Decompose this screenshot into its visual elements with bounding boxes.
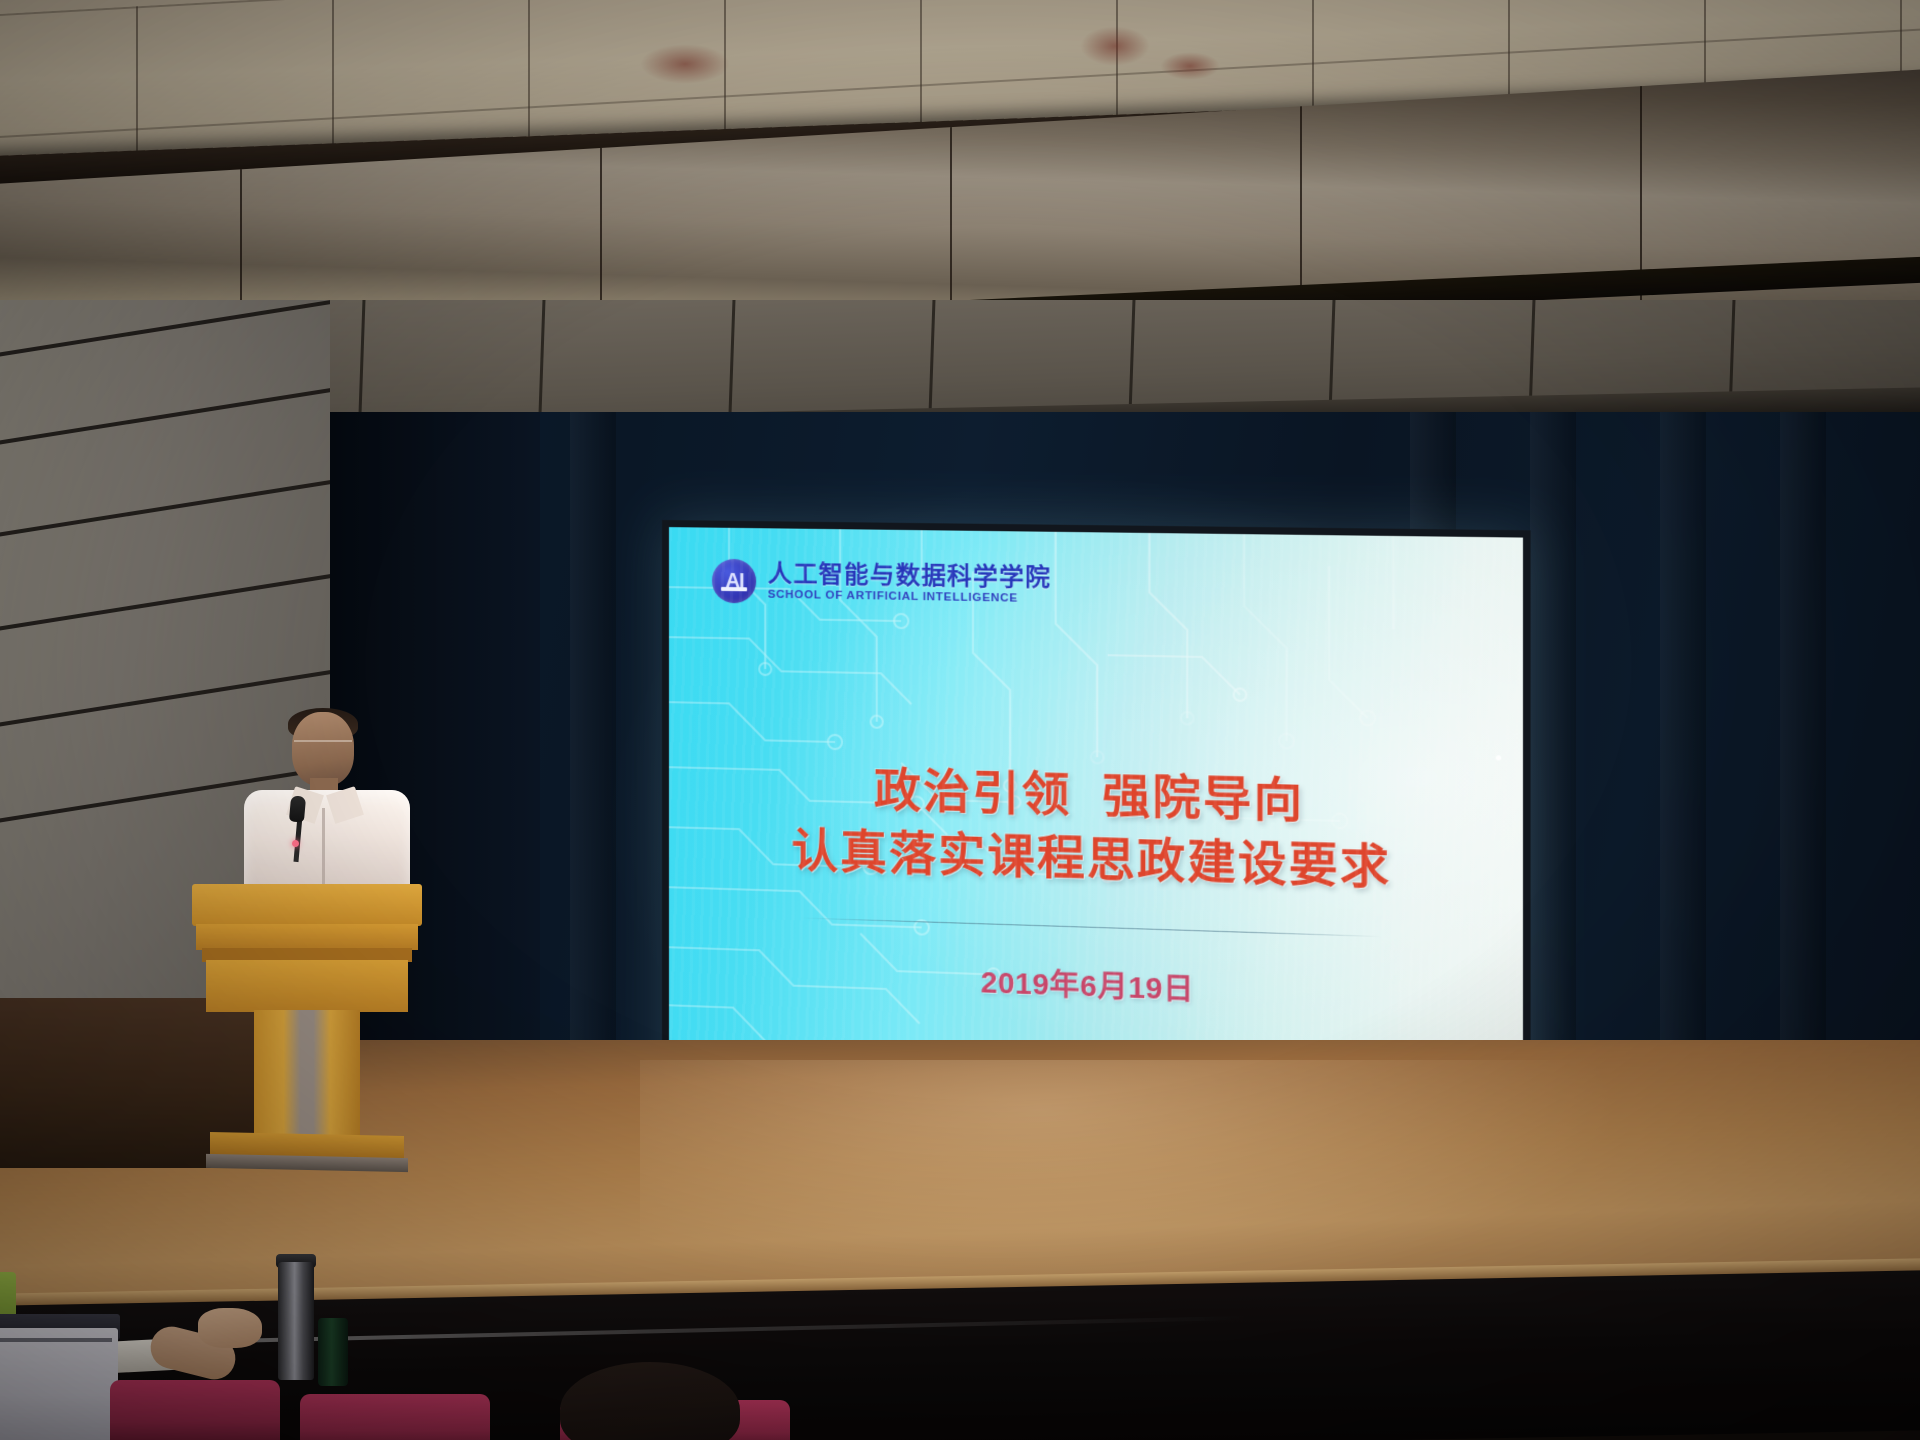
microphone-icon — [289, 795, 306, 822]
wall-seam — [727, 300, 736, 430]
school-logo-text: 人工智能与数据科学学院 SCHOOL OF ARTIFICIAL INTELLI… — [768, 562, 1051, 606]
presenter — [236, 712, 416, 902]
auditorium-seat — [300, 1394, 490, 1440]
podium-top-surface — [192, 884, 422, 926]
school-name-cn: 人工智能与数据科学学院 — [768, 562, 1051, 591]
microphone-led-indicator — [292, 840, 299, 847]
bottle — [318, 1318, 348, 1386]
curtain-fold — [1780, 412, 1826, 1052]
thermos — [278, 1262, 314, 1380]
slide-title: 政治引领 强院导向 认真落实课程思政建设要求 — [669, 753, 1523, 903]
ceiling-stain — [1160, 52, 1220, 80]
podium-column — [254, 1010, 360, 1140]
audience-hand — [150, 1308, 270, 1372]
ai-logo-mark-icon: AI — [712, 559, 756, 604]
school-name-en: SCHOOL OF ARTIFICIAL INTELLIGENCE — [768, 590, 1051, 606]
ceiling-stain — [640, 44, 730, 84]
lecture-hall-photo: AI 人工智能与数据科学学院 SCHOOL OF ARTIFICIAL INTE… — [0, 0, 1920, 1440]
curtain-fold — [570, 412, 616, 1052]
screen-highlight-dot — [1495, 755, 1500, 760]
podium — [192, 884, 422, 1194]
palm — [198, 1308, 262, 1348]
podium-apron — [196, 924, 418, 950]
curtain-fold — [1530, 412, 1576, 1052]
basket-mesh-pattern — [0, 1338, 112, 1436]
wall-seam — [357, 300, 366, 430]
curtain-fold — [1660, 412, 1706, 1052]
podium-body — [206, 960, 408, 1012]
podium-base-plinth — [206, 1154, 408, 1172]
ai-logo-letters: AI — [712, 559, 756, 604]
ceiling-stain — [1080, 26, 1150, 66]
plastic-basket — [0, 1328, 118, 1440]
ai-logo-underbar — [721, 587, 747, 591]
glasses-icon — [294, 740, 352, 751]
school-logo: AI 人工智能与数据科学学院 SCHOOL OF ARTIFICIAL INTE… — [712, 559, 1051, 609]
auditorium-seat — [110, 1380, 280, 1440]
wall-seam — [537, 300, 546, 430]
